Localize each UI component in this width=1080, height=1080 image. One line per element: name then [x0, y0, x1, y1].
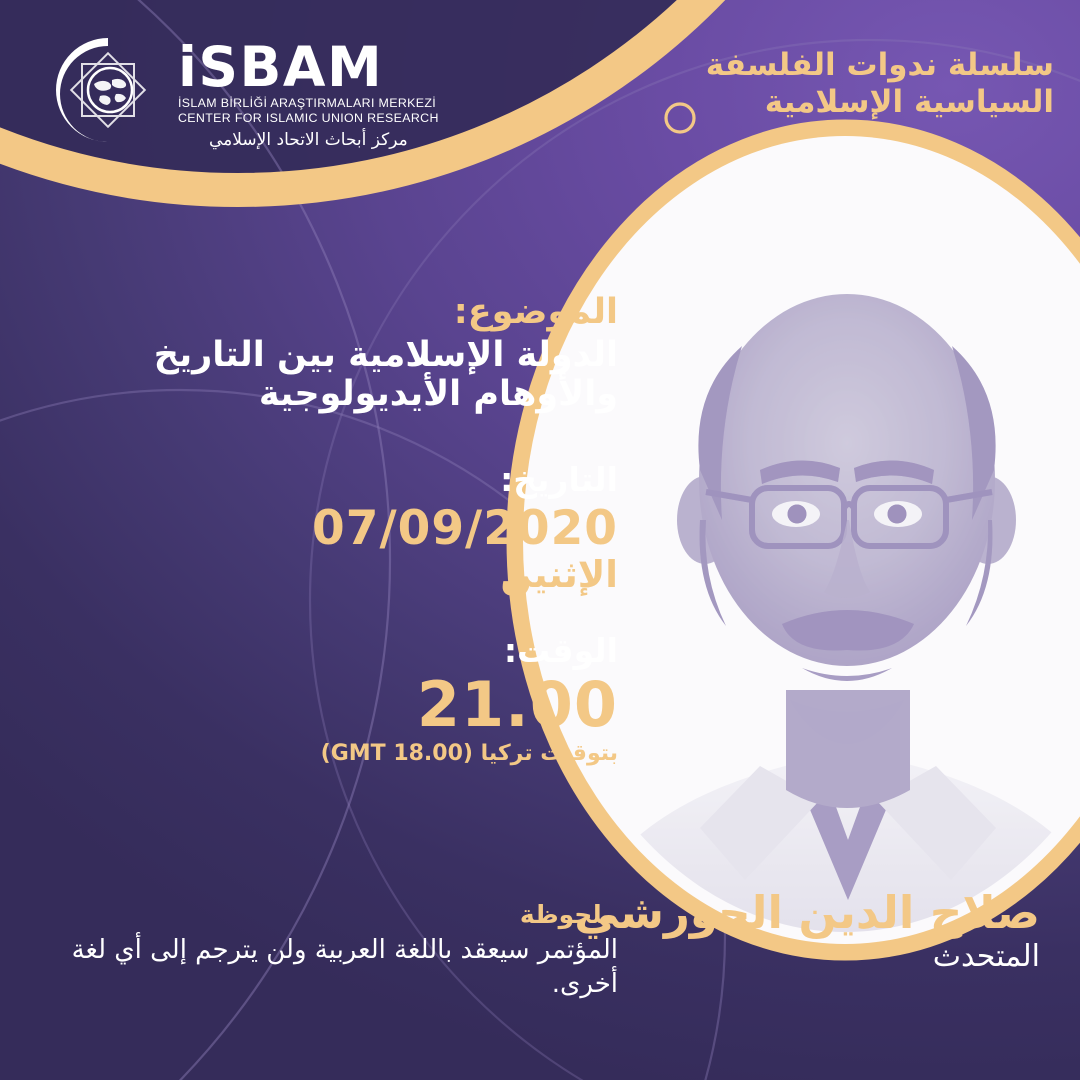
brand-logo: iSBAM İSLAM BİRLİĞİ ARAŞTIRMALARI MERKEZ…: [52, 34, 439, 151]
logo-subtitle-turkish: İSLAM BİRLİĞİ ARAŞTIRMALARI MERKEZİ: [178, 96, 436, 112]
logo-wordmark: iSBAM: [178, 42, 383, 93]
series-header: سلسلة ندوات الفلسفة السياسية الإسلامية 2: [578, 28, 1054, 140]
date-value: 07/09/2020: [60, 503, 618, 555]
date-weekday: الإثنين: [60, 554, 618, 595]
series-title-line2: السياسية الإسلامية: [706, 84, 1054, 121]
note-block: ملحوظة المؤتمر سيعقد باللغة العربية ولن …: [60, 900, 618, 1002]
topic-block: الموضوع: الدولة الإسلامية بين التاريخ وا…: [60, 292, 618, 415]
time-block: الوقت: 21.00 بتوقيت تركيا (GMT 18.00): [60, 632, 618, 767]
series-title-line1: سلسلة ندوات الفلسفة: [706, 47, 1054, 84]
speaker-block: صلاح الدين الجورشي المتحدث: [540, 888, 1040, 974]
poster-canvas: iSBAM İSLAM BİRLİĞİ ARAŞTIRMALARI MERKEZ…: [0, 0, 1080, 1080]
note-label: ملحوظة: [60, 900, 618, 930]
date-label: التاريخ:: [60, 461, 618, 499]
note-text: المؤتمر سيعقد باللغة العربية ولن يترجم إ…: [60, 934, 618, 1002]
logo-subtitle-arabic: مركز أبحاث الاتحاد الإسلامي: [178, 129, 439, 151]
speaker-name: صلاح الدين الجورشي: [540, 888, 1040, 938]
series-title: سلسلة ندوات الفلسفة السياسية الإسلامية: [706, 47, 1054, 120]
date-block: التاريخ: 07/09/2020 الإثنين: [60, 461, 618, 596]
topic-value: الدولة الإسلامية بين التاريخ والأوهام ال…: [60, 336, 618, 414]
time-value: 21.00: [60, 672, 618, 739]
series-number-glyph: 2: [578, 28, 580, 140]
time-label: الوقت:: [60, 632, 618, 670]
time-zone: بتوقيت تركيا (GMT 18.00): [60, 741, 618, 767]
series-number-zero-glyph: [666, 104, 694, 132]
topic-label: الموضوع:: [60, 292, 618, 332]
speaker-role: المتحدث: [540, 940, 1040, 975]
series-number: 2: [578, 28, 696, 140]
crescent-globe-logo-icon: [52, 34, 164, 146]
event-details: الموضوع: الدولة الإسلامية بين التاريخ وا…: [60, 292, 618, 767]
logo-subtitle-english: CENTER FOR ISLAMIC UNION RESEARCH: [178, 111, 439, 127]
